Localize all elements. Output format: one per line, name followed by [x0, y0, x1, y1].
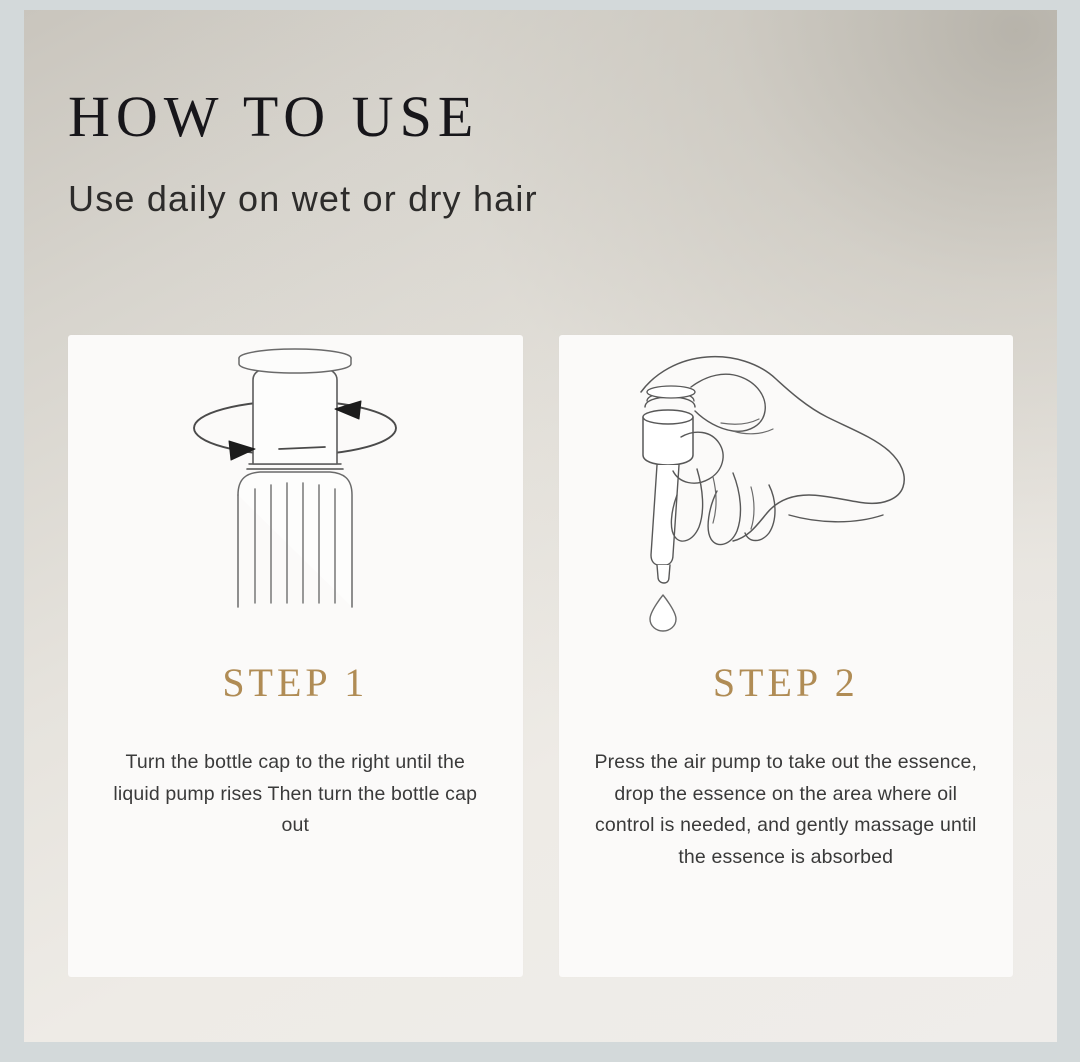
pipette-tube [651, 465, 679, 565]
step-2-description: Press the air pump to take out the essen… [559, 747, 1014, 873]
hand-dropper-illustration [559, 335, 1014, 655]
hand-wrist-lower [789, 515, 883, 522]
steps-container: STEP 1 Turn the bottle cap to the right … [68, 335, 1013, 977]
pipette-tip [657, 565, 670, 583]
hand-crease-1 [721, 419, 759, 424]
hand-dropper-svg [621, 345, 951, 645]
hand-finger-ring [708, 473, 740, 545]
hand-finger-gap-2 [751, 487, 754, 529]
dropper-bulb-top [643, 410, 693, 424]
outer-frame: HOW TO USE Use daily on wet or dry hair [0, 0, 1080, 1062]
bottle-cap-rim [239, 358, 351, 373]
page-subtitle: Use daily on wet or dry hair [68, 179, 708, 219]
bottle-rotate-svg [165, 345, 425, 645]
step-card-1: STEP 1 Turn the bottle cap to the right … [68, 335, 523, 977]
rotate-arrow-right-icon [229, 441, 255, 460]
step-1-label: STEP 1 [222, 663, 368, 703]
header: HOW TO USE Use daily on wet or dry hair [68, 88, 708, 219]
step-2-label: STEP 2 [713, 663, 859, 703]
hand-index-finger [691, 374, 765, 431]
bottle-neck [253, 369, 337, 464]
essence-droplet-icon [650, 595, 676, 631]
bottle-rotate-illustration [68, 335, 523, 655]
page-title: HOW TO USE [68, 88, 708, 146]
step-card-2: STEP 2 Press the air pump to take out th… [559, 335, 1014, 977]
dropper-collar-top [647, 386, 695, 398]
content-panel: HOW TO USE Use daily on wet or dry hair [24, 10, 1057, 1042]
step-1-description: Turn the bottle cap to the right until t… [68, 747, 523, 842]
